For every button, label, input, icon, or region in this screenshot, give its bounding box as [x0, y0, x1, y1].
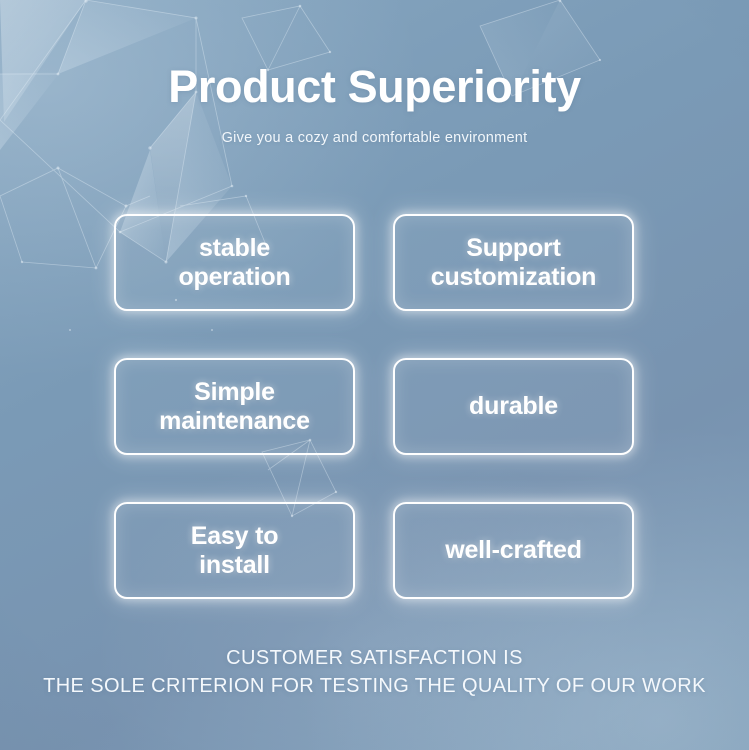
banner-footer: CUSTOMER SATISFACTION IS THE SOLE CRITER…: [0, 644, 749, 701]
feature-card-well-crafted[interactable]: well-crafted: [393, 502, 634, 599]
feature-card-label: well-crafted: [437, 536, 590, 565]
page-title: Product Superiority: [0, 63, 749, 110]
product-superiority-banner: Product Superiority Give you a cozy and …: [0, 0, 749, 750]
feature-card-grid: stable operation Support customization S…: [114, 214, 634, 599]
feature-card-label: stable operation: [170, 234, 298, 292]
page-subtitle: Give you a cozy and comfortable environm…: [0, 130, 749, 146]
feature-card-label: durable: [461, 392, 566, 421]
banner-header: Product Superiority Give you a cozy and …: [0, 0, 749, 146]
feature-card-stable-operation[interactable]: stable operation: [114, 214, 355, 311]
feature-card-simple-maintenance[interactable]: Simple maintenance: [114, 358, 355, 455]
feature-card-durable[interactable]: durable: [393, 358, 634, 455]
feature-card-support-customization[interactable]: Support customization: [393, 214, 634, 311]
footer-line-1: CUSTOMER SATISFACTION IS: [0, 644, 749, 672]
feature-card-easy-to-install[interactable]: Easy to install: [114, 502, 355, 599]
feature-card-label: Support customization: [423, 234, 604, 292]
feature-card-label: Simple maintenance: [151, 378, 318, 436]
feature-card-label: Easy to install: [183, 522, 287, 580]
footer-line-2: THE SOLE CRITERION FOR TESTING THE QUALI…: [0, 672, 749, 700]
